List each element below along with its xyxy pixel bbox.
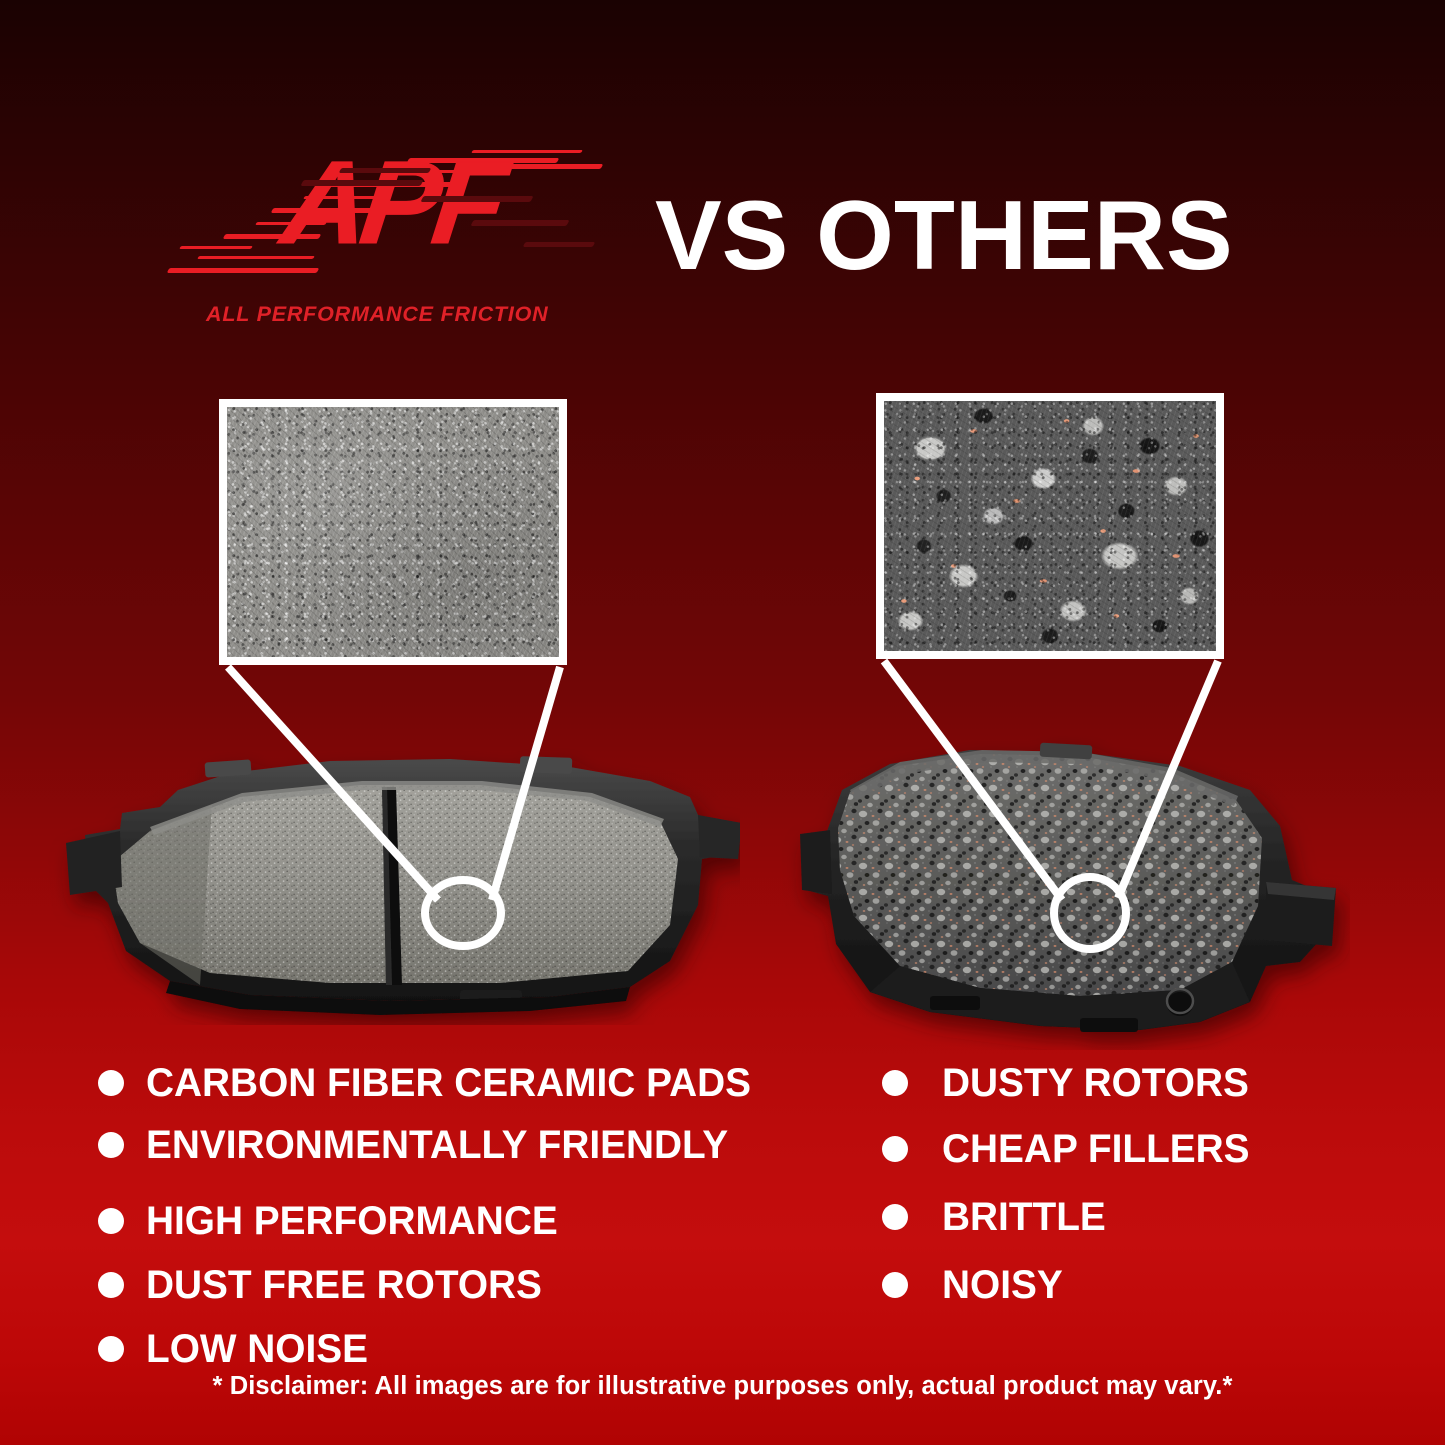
feature-label: CHEAP FILLERS (942, 1129, 1250, 1169)
list-item: NOISY (882, 1254, 1302, 1316)
list-item: DUST FREE ROTORS (98, 1254, 818, 1316)
feature-list-apf: CARBON FIBER CERAMIC PADS ENVIRONMENTALL… (98, 1052, 818, 1380)
list-item: DUSTY ROTORS (882, 1052, 1302, 1114)
bullet-icon (882, 1136, 908, 1162)
list-item: HIGH PERFORMANCE (98, 1190, 818, 1252)
list-item: CARBON FIBER CERAMIC PADS (98, 1052, 818, 1114)
callout-line-right (492, 667, 560, 900)
feature-label: DUSTY ROTORS (942, 1063, 1249, 1103)
feature-list-others: DUSTY ROTORS CHEAP FILLERS BRITTLE NOISY (882, 1052, 1302, 1316)
feature-label: LOW NOISE (146, 1329, 368, 1369)
feature-label: BRITTLE (942, 1197, 1106, 1237)
bullet-icon (98, 1070, 124, 1096)
callout-highlight-ring (1054, 877, 1126, 949)
bullet-icon (98, 1208, 124, 1234)
callout-good (228, 667, 560, 900)
feature-label: CARBON FIBER CERAMIC PADS (146, 1063, 751, 1103)
list-item: CHEAP FILLERS (882, 1118, 1302, 1180)
feature-label: ENVIRONMENTALLY FRIENDLY (146, 1125, 728, 1165)
bullet-icon (882, 1070, 908, 1096)
list-item: LOW NOISE (98, 1318, 818, 1380)
list-item: ENVIRONMENTALLY FRIENDLY (98, 1114, 818, 1176)
feature-label: HIGH PERFORMANCE (146, 1201, 558, 1241)
promo-graphic: APF ALL PERFORMANCE FRICTION VS OTHERS (0, 0, 1445, 1445)
callout-bad (884, 661, 1218, 900)
bullet-icon (98, 1132, 124, 1158)
callout-line-right (1118, 661, 1218, 898)
bullet-icon (98, 1272, 124, 1298)
callout-highlight-ring (425, 880, 501, 946)
feature-label: NOISY (942, 1265, 1063, 1305)
callout-line-left (884, 661, 1062, 900)
bullet-icon (98, 1336, 124, 1362)
bullet-icon (882, 1204, 908, 1230)
bullet-icon (882, 1272, 908, 1298)
disclaimer-text: * Disclaimer: All images are for illustr… (0, 1372, 1445, 1401)
feature-label: DUST FREE ROTORS (146, 1265, 542, 1305)
callout-line-left (228, 667, 438, 900)
list-item: BRITTLE (882, 1186, 1302, 1248)
